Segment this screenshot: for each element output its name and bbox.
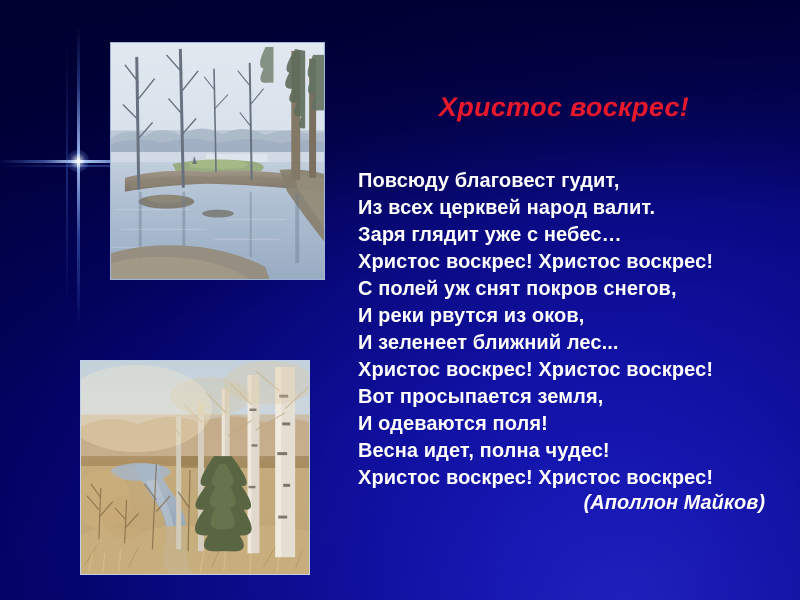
- spring-flood-artwork: [111, 43, 324, 279]
- spring-forest-artwork: [81, 361, 309, 574]
- image-spring-flood: [110, 42, 325, 280]
- poem-line: Христос воскрес! Христос воскрес!: [358, 465, 770, 492]
- poem-line: Заря глядит уже с небес…: [358, 222, 770, 249]
- poem-line: Из всех церквей народ валит.: [358, 195, 770, 222]
- poem-line: И одеваются поля!: [358, 411, 770, 438]
- poem-line: И реки рвутся из оков,: [358, 303, 770, 330]
- poem-line: Весна идет, полна чудес!: [358, 438, 770, 465]
- image-spring-birch-forest: [80, 360, 310, 575]
- slide-title: Христос воскрес!: [358, 92, 770, 123]
- presentation-slide: Христос воскрес! Повсюду благовест гудит…: [0, 0, 800, 600]
- poem-text: Повсюду благовест гудит, Из всех церквей…: [358, 168, 770, 492]
- poem-line: Христос воскрес! Христос воскрес!: [358, 249, 770, 276]
- poem-line: Повсюду благовест гудит,: [358, 168, 770, 195]
- poem-line: Вот просыпается земля,: [358, 384, 770, 411]
- poem-line: Христос воскрес! Христос воскрес!: [358, 357, 770, 384]
- poem-line: С полей уж снят покров снегов,: [358, 276, 770, 303]
- poem-author: (Аполлон Майков): [358, 492, 765, 515]
- poem-line: И зеленеет ближний лес...: [358, 330, 770, 357]
